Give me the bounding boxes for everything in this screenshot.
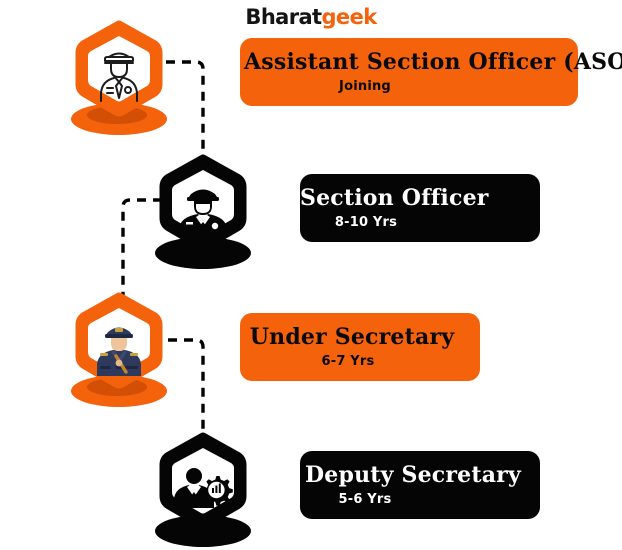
node-icon-aso <box>64 18 174 138</box>
rank-card-ds[interactable]: Deputy Secretary 5-6 Yrs <box>300 451 540 519</box>
rank-card-so[interactable]: Section Officer 8-10 Yrs <box>300 174 540 242</box>
rank-title-so: Section Officer <box>300 183 540 213</box>
rank-card-aso[interactable]: Assistant Section Officer (ASO) Joining <box>240 38 578 106</box>
gear-icon <box>203 476 233 506</box>
brand-name-accent: geek <box>322 5 377 29</box>
rank-subtitle-aso: Joining <box>240 77 578 97</box>
rank-card-us[interactable]: Under Secretary 6-7 Yrs <box>240 313 480 381</box>
node-icon-ds <box>148 430 258 550</box>
rank-subtitle-us: 6-7 Yrs <box>240 352 480 372</box>
rank-subtitle-ds: 5-6 Yrs <box>300 490 540 510</box>
node-icon-so <box>148 152 258 272</box>
rank-title-ds: Deputy Secretary <box>300 460 540 490</box>
rank-title-us: Under Secretary <box>240 322 480 352</box>
node-icon-us <box>64 290 174 410</box>
rank-subtitle-so: 8-10 Yrs <box>300 213 540 233</box>
rank-title-aso: Assistant Section Officer (ASO) <box>240 47 578 77</box>
brand-name-dark: Bharat <box>245 5 321 29</box>
